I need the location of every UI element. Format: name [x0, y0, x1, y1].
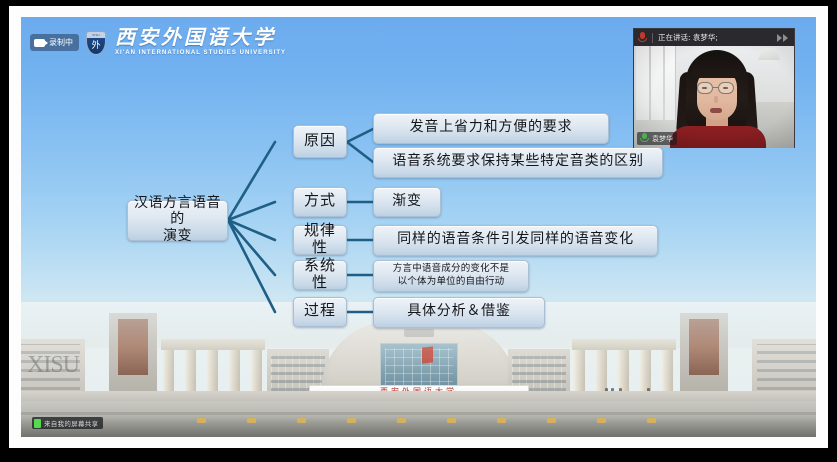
- microphone-muted-icon: [638, 32, 647, 44]
- green-status-icon: [34, 419, 41, 428]
- mindmap-leaf-cause-2[interactable]: 语音系统要求保持某些特定音类的区别: [373, 147, 663, 178]
- mindmap-leaf-systematicity-1[interactable]: 方言中语音成分的变化不是 以个体为单位的自由行动: [373, 260, 529, 292]
- participant-name: 袁梦华: [652, 134, 673, 144]
- mindmap-root-node[interactable]: 汉语方言语音的 演变: [127, 200, 228, 241]
- watermark-label: 来自我的屏幕共享: [44, 418, 98, 428]
- mindmap-branch-manner[interactable]: 方式: [293, 187, 347, 217]
- mindmap-branch-regularity[interactable]: 规律性: [293, 225, 347, 255]
- active-speaker-label: 正在讲话: 袁梦华;: [658, 32, 718, 43]
- screen-capture: 西安外国语大学 XI'AN INTERNATIONAL STUDIES UNIV…: [0, 0, 837, 462]
- video-thumbnail-panel[interactable]: 正在讲话: 袁梦华;: [633, 28, 795, 148]
- header-divider: [652, 33, 653, 43]
- mindmap-branch-process[interactable]: 过程: [293, 297, 347, 327]
- mindmap-branch-systematicity[interactable]: 系统性: [293, 260, 347, 290]
- mindmap-branch-cause[interactable]: 原因: [293, 125, 347, 158]
- mindmap-leaf-process-1[interactable]: 具体分析＆借鉴: [373, 297, 545, 328]
- chevron-right-icon[interactable]: [777, 34, 790, 42]
- mindmap-leaf-cause-1[interactable]: 发音上省力和方便的要求: [373, 113, 609, 144]
- microphone-active-icon: [639, 133, 649, 144]
- video-panel-header: 正在讲话: 袁梦华;: [634, 29, 794, 46]
- participant-name-tag: 袁梦华: [637, 132, 677, 145]
- screen-share-watermark: 来自我的屏幕共享: [32, 417, 103, 429]
- mindmap-leaf-manner-1[interactable]: 渐变: [373, 187, 441, 217]
- mindmap-leaf-regularity-1[interactable]: 同样的语音条件引发同样的语音变化: [373, 225, 658, 256]
- video-feed[interactable]: 袁梦华: [634, 46, 794, 148]
